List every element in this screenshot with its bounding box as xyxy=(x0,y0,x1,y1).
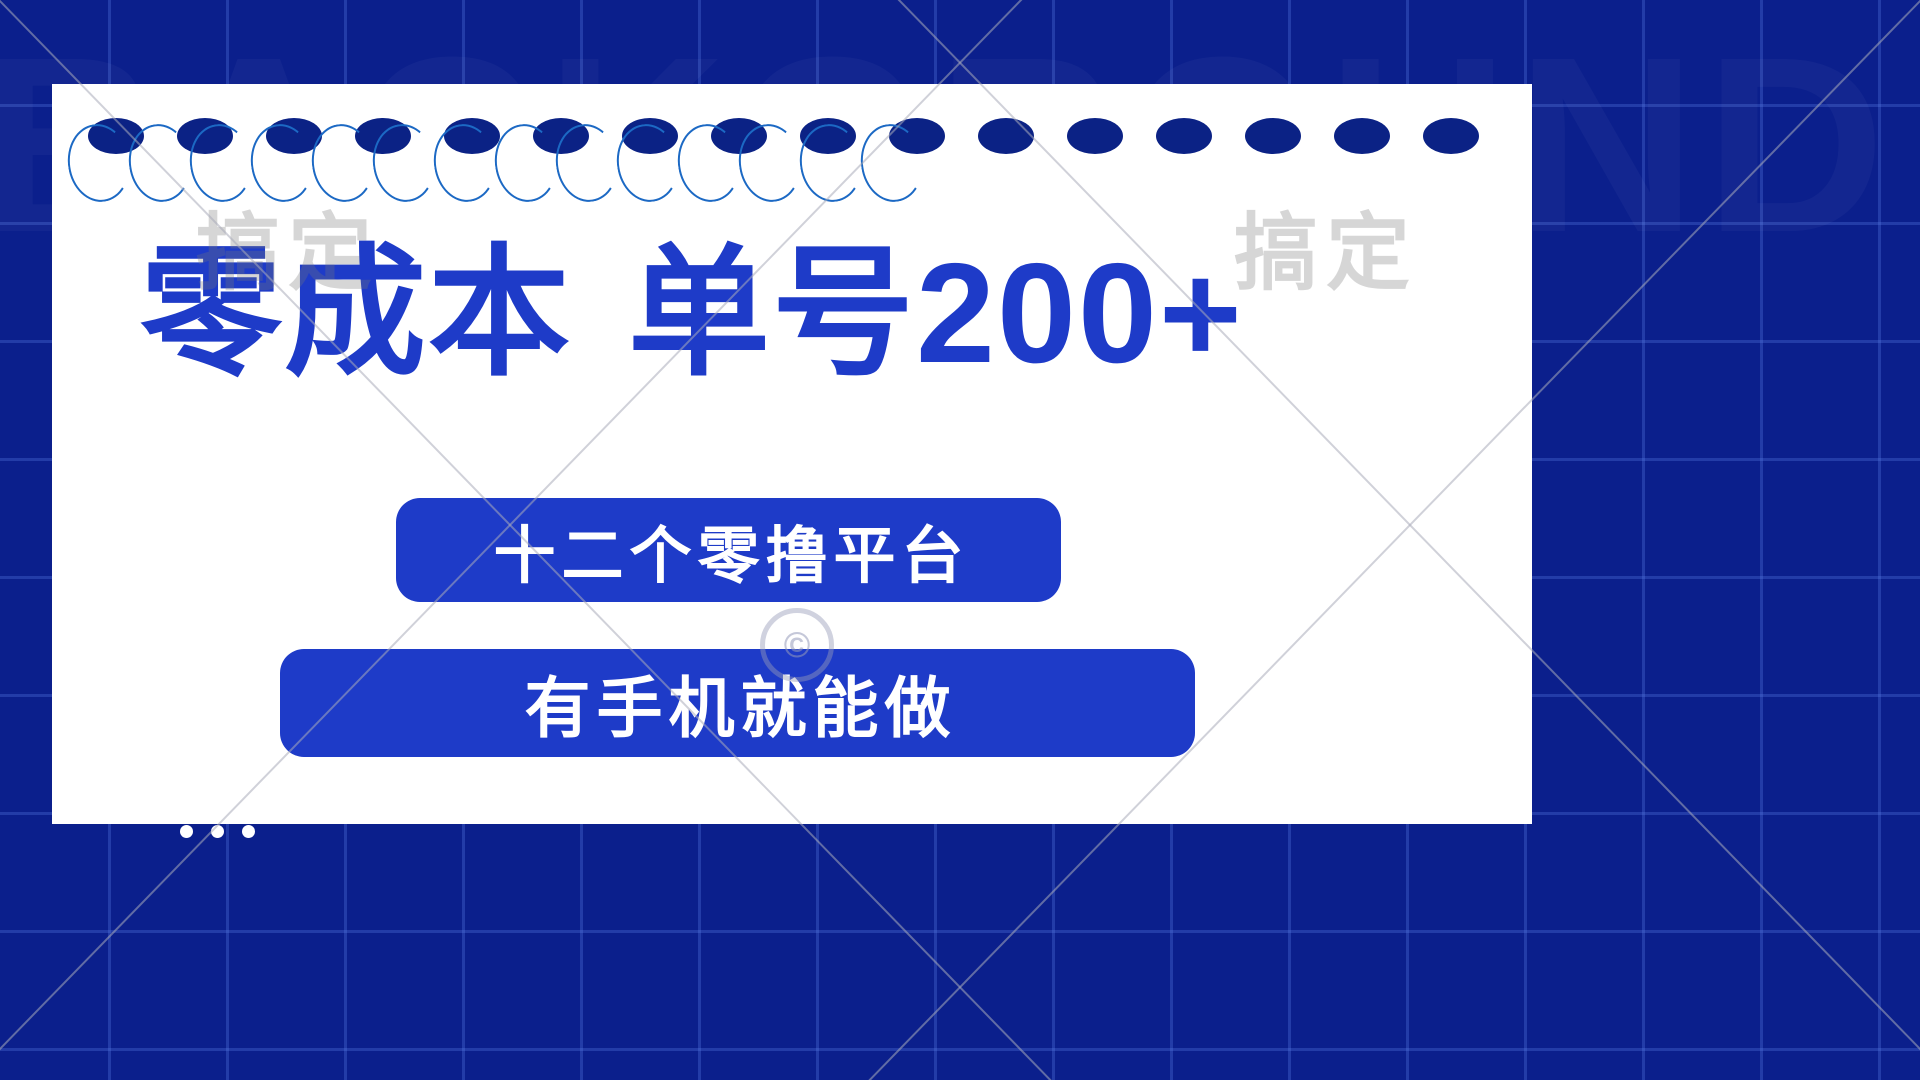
page-dot xyxy=(180,825,193,838)
binding-hole xyxy=(1423,118,1479,154)
binding-ring xyxy=(551,120,623,206)
page-title-right: 单号200+ xyxy=(628,234,1244,393)
binding-hole xyxy=(533,118,589,154)
binding-hole xyxy=(889,118,945,154)
page-dot xyxy=(211,825,224,838)
binding-hole xyxy=(711,118,767,154)
binding-hole xyxy=(1245,118,1301,154)
copyright-watermark-icon: © xyxy=(760,608,834,682)
page-dot xyxy=(242,825,255,838)
binding-hole xyxy=(444,118,500,154)
binding-ring xyxy=(490,120,562,206)
brand-watermark-left: 搞定 xyxy=(196,186,380,307)
binding-ring xyxy=(734,120,806,206)
binding-ring xyxy=(429,120,501,206)
binding-hole xyxy=(622,118,678,154)
binding-ring xyxy=(673,120,745,206)
binding-ring xyxy=(795,120,867,206)
binding-hole xyxy=(978,118,1034,154)
binding-ring xyxy=(63,120,135,206)
highlight-pill-platforms[interactable]: 十二个零撸平台 xyxy=(396,498,1061,602)
page-indicator-dots xyxy=(180,825,255,838)
binding-hole xyxy=(800,118,856,154)
binding-hole xyxy=(1334,118,1390,154)
binding-hole xyxy=(88,118,144,154)
binding-hole xyxy=(177,118,233,154)
binding-hole xyxy=(355,118,411,154)
binding-ring xyxy=(612,120,684,206)
binding-hole xyxy=(1067,118,1123,154)
poster-canvas: BACKGROUND 零成本单号200+ 十二个零撸平台 有手机就能做 搞定 搞… xyxy=(0,0,1920,1080)
brand-watermark-right: 搞定 xyxy=(1234,186,1418,307)
binding-hole xyxy=(1156,118,1212,154)
binding-hole xyxy=(266,118,322,154)
binding-ring xyxy=(856,120,928,206)
highlight-pill-phone-only[interactable]: 有手机就能做 xyxy=(280,649,1195,757)
binding-ring xyxy=(124,120,196,206)
